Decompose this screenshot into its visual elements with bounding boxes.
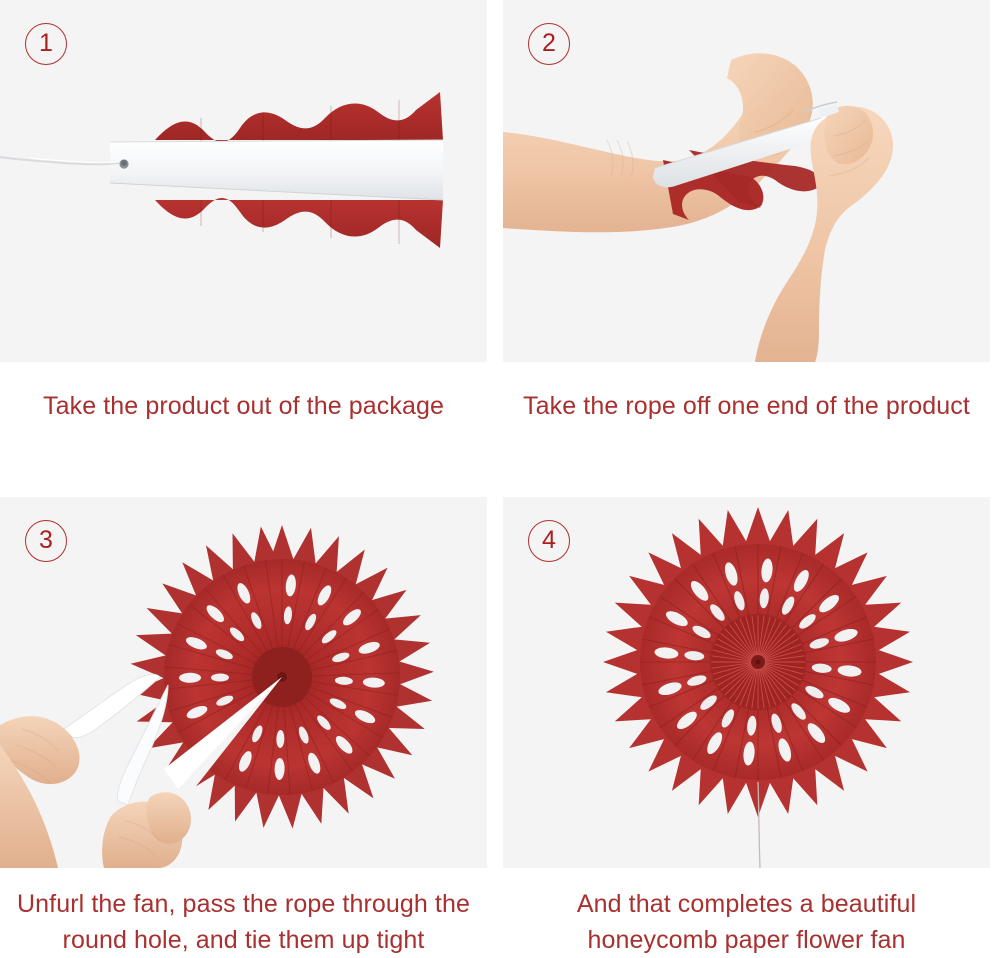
completed-fan-illustration [503, 497, 990, 868]
step-card-1: 1 Take the product out of the package [0, 0, 487, 424]
step-2-badge: 2 [528, 23, 570, 65]
caption-line: And that completes a beautiful [503, 886, 990, 922]
step-1-caption: Take the product out of the package [0, 362, 487, 424]
step-4-photo: 4 [503, 497, 990, 868]
step-2-caption: Take the rope off one end of the product [503, 362, 990, 424]
step-4-caption: And that completes a beautiful honeycomb… [503, 868, 990, 958]
hands-removing-rope-illustration [503, 0, 990, 362]
step-3-badge: 3 [25, 520, 67, 562]
caption-line: Take the product out of the package [0, 388, 487, 424]
step-4-badge: 4 [528, 520, 570, 562]
step-card-2: 2 Take the rope off one end of the produ… [503, 0, 990, 424]
folded-fan-illustration [0, 0, 487, 362]
unfurling-fan-illustration [0, 497, 487, 868]
step-card-4: 4 And that completes a beautiful honeyco… [503, 497, 990, 958]
caption-line: Take the rope off one end of the product [503, 388, 990, 424]
step-3-caption: Unfurl the fan, pass the rope through th… [0, 868, 487, 958]
caption-line: honeycomb paper flower fan [503, 922, 990, 958]
step-1-photo: 1 [0, 0, 487, 362]
step-card-3: 3 Unfurl the fan, pass the rope through … [0, 497, 487, 958]
caption-line: Unfurl the fan, pass the rope through th… [0, 886, 487, 922]
step-1-badge: 1 [25, 23, 67, 65]
step-3-photo: 3 [0, 497, 487, 868]
instruction-sheet: 1 Take the product out of the package [0, 0, 1000, 956]
caption-line: round hole, and tie them up tight [0, 922, 487, 958]
step-2-photo: 2 [503, 0, 990, 362]
